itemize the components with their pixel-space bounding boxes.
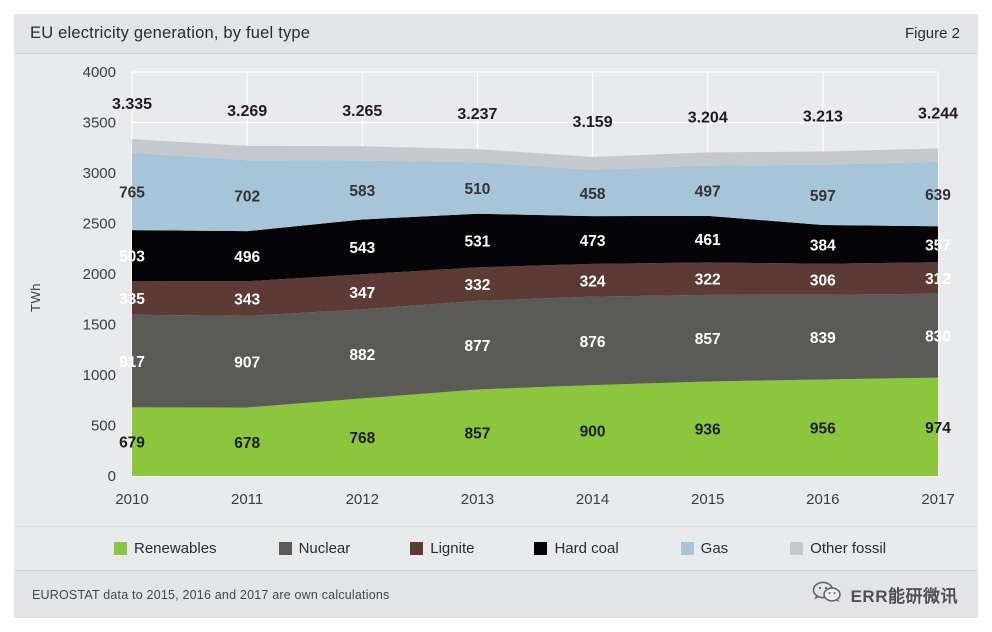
data-label: 956 bbox=[810, 421, 836, 438]
plot-area: TWh 050010001500200025003000350040006796… bbox=[14, 54, 978, 526]
legend-swatch-icon bbox=[410, 542, 423, 555]
total-label: 3.213 bbox=[803, 108, 843, 125]
legend-label: Lignite bbox=[430, 540, 474, 557]
stacked-area-chart: 0500100015002000250030003500400067967876… bbox=[14, 54, 978, 526]
data-label: 497 bbox=[695, 184, 721, 201]
data-label: 510 bbox=[464, 181, 490, 198]
data-label: 461 bbox=[695, 232, 721, 249]
legend-item-lignite[interactable]: Lignite bbox=[410, 540, 474, 557]
watermark: ERR能研微讯 bbox=[812, 580, 958, 609]
data-label: 830 bbox=[925, 329, 951, 346]
data-label: 458 bbox=[580, 186, 606, 203]
data-label: 347 bbox=[349, 285, 375, 302]
legend-label: Gas bbox=[701, 540, 729, 557]
chart-legend: RenewablesNuclearLigniteHard coalGasOthe… bbox=[14, 526, 978, 570]
legend-swatch-icon bbox=[279, 542, 292, 555]
legend-label: Nuclear bbox=[299, 540, 351, 557]
x-tick-label: 2016 bbox=[806, 491, 839, 508]
data-label: 857 bbox=[695, 331, 721, 348]
data-label: 678 bbox=[234, 435, 260, 452]
chart-card: EU electricity generation, by fuel type … bbox=[14, 14, 978, 618]
data-label: 882 bbox=[349, 347, 375, 364]
legend-swatch-icon bbox=[534, 542, 547, 555]
x-tick-label: 2015 bbox=[691, 491, 724, 508]
x-tick-label: 2010 bbox=[115, 491, 148, 508]
total-label: 3.237 bbox=[457, 106, 497, 123]
y-tick-label: 4000 bbox=[83, 64, 116, 81]
legend-item-renewables[interactable]: Renewables bbox=[114, 540, 217, 557]
legend-swatch-icon bbox=[790, 542, 803, 555]
legend-label: Hard coal bbox=[554, 540, 618, 557]
data-label: 312 bbox=[925, 271, 951, 288]
data-label: 917 bbox=[119, 354, 145, 371]
chart-header: EU electricity generation, by fuel type … bbox=[14, 14, 978, 54]
legend-item-other-fossil[interactable]: Other fossil bbox=[790, 540, 886, 557]
data-label: 702 bbox=[234, 189, 260, 206]
data-label: 936 bbox=[695, 422, 721, 439]
data-label: 765 bbox=[119, 185, 145, 202]
y-tick-label: 3000 bbox=[83, 165, 116, 182]
total-label: 3.204 bbox=[688, 109, 728, 126]
source-note: EUROSTAT data to 2015, 2016 and 2017 are… bbox=[32, 588, 389, 602]
x-tick-label: 2011 bbox=[231, 491, 263, 508]
x-tick-label: 2013 bbox=[461, 491, 494, 508]
chart-footer: EUROSTAT data to 2015, 2016 and 2017 are… bbox=[14, 570, 978, 618]
legend-item-hard-coal[interactable]: Hard coal bbox=[534, 540, 618, 557]
legend-label: Renewables bbox=[134, 540, 217, 557]
x-tick-label: 2017 bbox=[921, 491, 954, 508]
data-label: 357 bbox=[925, 237, 951, 254]
legend-swatch-icon bbox=[681, 542, 694, 555]
data-label: 343 bbox=[234, 292, 260, 309]
data-label: 839 bbox=[810, 330, 836, 347]
y-tick-label: 2500 bbox=[83, 216, 116, 233]
total-label: 3.335 bbox=[112, 96, 152, 113]
watermark-text: ERR能研微讯 bbox=[851, 582, 958, 607]
y-tick-label: 1000 bbox=[83, 367, 116, 384]
data-label: 543 bbox=[349, 240, 375, 257]
legend-item-gas[interactable]: Gas bbox=[681, 540, 729, 557]
data-label: 496 bbox=[234, 249, 260, 266]
data-label: 900 bbox=[580, 424, 606, 441]
figure-label: Figure 2 bbox=[905, 25, 960, 42]
data-label: 384 bbox=[810, 237, 836, 254]
y-tick-label: 2000 bbox=[83, 266, 116, 283]
legend-label: Other fossil bbox=[810, 540, 886, 557]
data-label: 907 bbox=[234, 355, 260, 372]
data-label: 324 bbox=[580, 273, 606, 290]
chart-canvas: 0500100015002000250030003500400067967876… bbox=[14, 54, 978, 526]
data-label: 531 bbox=[464, 234, 490, 251]
data-label: 322 bbox=[695, 272, 721, 289]
total-label: 3.265 bbox=[342, 103, 382, 120]
figure-root: EU electricity generation, by fuel type … bbox=[0, 0, 992, 632]
data-label: 335 bbox=[119, 291, 145, 308]
data-label: 473 bbox=[580, 233, 606, 250]
legend-swatch-icon bbox=[114, 542, 127, 555]
x-tick-label: 2012 bbox=[346, 491, 379, 508]
y-tick-label: 500 bbox=[91, 418, 116, 435]
data-label: 332 bbox=[464, 277, 490, 294]
data-label: 639 bbox=[925, 187, 951, 204]
total-label: 3.244 bbox=[918, 105, 958, 122]
x-tick-label: 2014 bbox=[576, 491, 609, 508]
data-label: 583 bbox=[349, 183, 375, 200]
y-tick-label: 3500 bbox=[83, 115, 116, 132]
data-label: 877 bbox=[464, 338, 490, 355]
data-label: 306 bbox=[810, 272, 836, 289]
legend-item-nuclear[interactable]: Nuclear bbox=[279, 540, 351, 557]
y-tick-label: 1500 bbox=[83, 317, 116, 334]
data-label: 597 bbox=[810, 188, 836, 205]
data-label: 876 bbox=[580, 334, 606, 351]
data-label: 503 bbox=[119, 249, 145, 266]
page-title: EU electricity generation, by fuel type bbox=[30, 24, 310, 43]
data-label: 679 bbox=[119, 435, 145, 452]
wechat-icon bbox=[812, 580, 842, 609]
total-label: 3.269 bbox=[227, 103, 267, 120]
data-label: 768 bbox=[349, 430, 375, 447]
data-label: 857 bbox=[464, 426, 490, 443]
data-label: 974 bbox=[925, 420, 951, 437]
y-tick-label: 0 bbox=[108, 468, 116, 485]
total-label: 3.159 bbox=[573, 114, 613, 131]
